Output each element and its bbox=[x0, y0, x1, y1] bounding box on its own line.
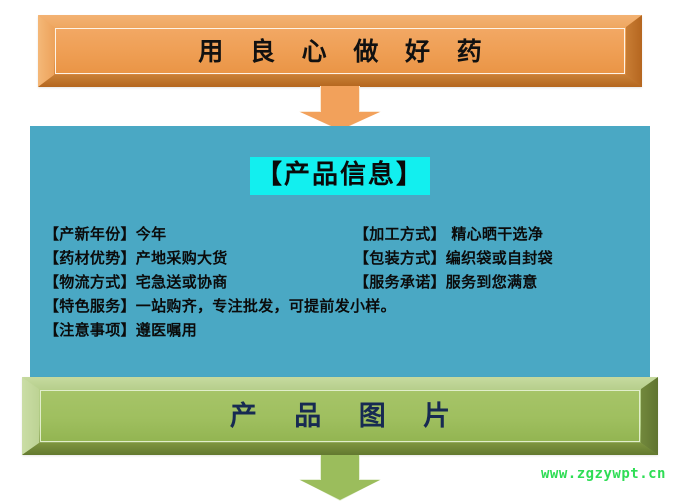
info-cell-logistics-method: 【物流方式】宅急送或协商 bbox=[44, 270, 354, 294]
info-row: 【药材优势】产地采购大货 【包装方式】编织袋或自封袋 bbox=[44, 246, 640, 270]
product-info-panel: 【产品信息】 【产新年份】今年 【加工方式】 精心晒干选净 【药材优势】产地采购… bbox=[30, 126, 650, 378]
product-images-banner-inner: 产 品 图 片 bbox=[40, 390, 640, 442]
arrow-head bbox=[300, 480, 380, 500]
slogan-banner: 用 良 心 做 好 药 bbox=[38, 15, 642, 87]
info-cell-precautions: 【注意事项】遵医嘱用 bbox=[44, 318, 640, 342]
info-row: 【注意事项】遵医嘱用 bbox=[44, 318, 640, 342]
info-row: 【产新年份】今年 【加工方式】 精心晒干选净 bbox=[44, 222, 640, 246]
info-cell-processing-method: 【加工方式】 精心晒干选净 bbox=[354, 222, 640, 246]
slogan-bevel-left bbox=[38, 15, 54, 87]
product-images-bevel-top bbox=[22, 377, 658, 389]
info-cell-production-year: 【产新年份】今年 bbox=[44, 222, 354, 246]
info-cell-packaging-method: 【包装方式】编织袋或自封袋 bbox=[354, 246, 640, 270]
arrow-shaft bbox=[320, 455, 360, 481]
slogan-bevel-top bbox=[38, 15, 642, 27]
down-arrow-icon-green bbox=[300, 455, 380, 500]
product-images-text: 产 品 图 片 bbox=[216, 403, 464, 430]
product-info-title-wrap: 【产品信息】 bbox=[30, 157, 650, 195]
arrow-shaft bbox=[320, 86, 360, 113]
down-arrow-icon-orange bbox=[300, 86, 380, 130]
product-images-bevel-right bbox=[641, 377, 658, 455]
product-images-banner: 产 品 图 片 bbox=[22, 377, 658, 455]
product-images-bevel-bottom bbox=[22, 443, 658, 455]
product-images-bevel-left bbox=[22, 377, 39, 455]
product-info-lines: 【产新年份】今年 【加工方式】 精心晒干选净 【药材优势】产地采购大货 【包装方… bbox=[44, 222, 640, 342]
site-watermark: www.zgzywpt.cn bbox=[541, 466, 666, 482]
product-info-title: 【产品信息】 bbox=[250, 157, 430, 195]
info-row: 【特色服务】一站购齐，专注批发，可提前发小样。 bbox=[44, 294, 640, 318]
info-cell-material-advantage: 【药材优势】产地采购大货 bbox=[44, 246, 354, 270]
product-description-banner: 用 良 心 做 好 药 【产品信息】 【产新年份】今年 【加工方式】 精心晒干选… bbox=[0, 0, 680, 500]
slogan-text: 用 良 心 做 好 药 bbox=[189, 39, 491, 64]
info-cell-service-promise: 【服务承诺】服务到您满意 bbox=[354, 270, 640, 294]
info-row: 【物流方式】宅急送或协商 【服务承诺】服务到您满意 bbox=[44, 270, 640, 294]
info-cell-featured-service: 【特色服务】一站购齐，专注批发，可提前发小样。 bbox=[44, 294, 640, 318]
slogan-bevel-right bbox=[626, 15, 642, 87]
slogan-banner-inner: 用 良 心 做 好 药 bbox=[55, 28, 625, 74]
